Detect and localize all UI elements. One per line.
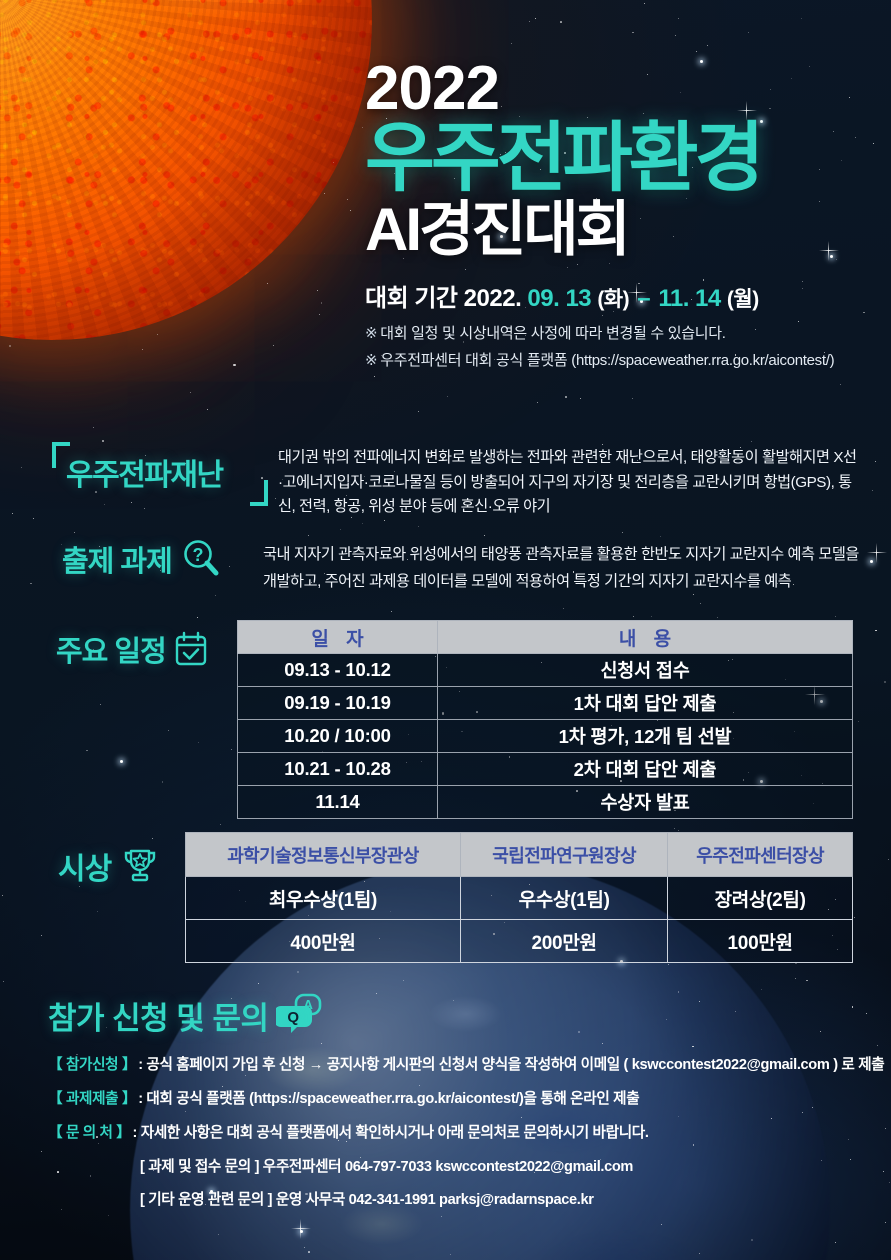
table-row: 최우수상(1팀)우수상(1팀)장려상(2팀) <box>186 877 853 920</box>
apply-line-text: : 공식 홈페이지 가입 후 신청 → 공지사항 게시판의 신청서 양식을 작성… <box>138 1057 884 1073</box>
schedule-table-header-row: 일 자 내 용 <box>238 621 853 654</box>
schedule-content-cell: 1차 대회 답안 제출 <box>438 687 853 720</box>
schedule-date-cell: 09.19 - 10.19 <box>238 687 438 720</box>
apply-line: 【 문 의 처 】: 자세한 사항은 대회 공식 플랫폼에서 확인하시거나 아래… <box>48 1123 860 1143</box>
task-label-group: 출제 과제 ? <box>48 538 263 580</box>
awards-table: 과학기술정보통신부장관상 국립전파연구원장상 우주전파센터장상 최우수상(1팀)… <box>185 832 853 963</box>
period-dash: – <box>635 285 652 312</box>
schedule-date-cell: 09.13 - 10.12 <box>238 654 438 687</box>
disaster-section: 우주전파재난 대기권 밖의 전파에너지 변화로 발생하는 전파와 관련한 재난으… <box>48 442 860 520</box>
award-prize-cell: 100만원 <box>668 920 853 963</box>
awards-table-header-row: 과학기술정보통신부장관상 국립전파연구원장상 우주전파센터장상 <box>186 833 853 877</box>
year-text: 2022 <box>365 60 875 117</box>
note-line-2: ※우주전파센터 대회 공식 플랫폼 (https://spaceweather.… <box>365 349 875 373</box>
period-start: 09. 13 <box>527 285 591 312</box>
table-row: 400만원200만원100만원 <box>186 920 853 963</box>
poster-header: 2022 우주전파환경 AI경진대회 대회 기간 2022. 09. 13 (화… <box>365 60 875 373</box>
table-row: 10.20 / 10:001차 평가, 12개 팀 선발 <box>238 720 853 753</box>
awards-col-2: 국립전파연구원장상 <box>460 833 667 877</box>
period-start-dow: (화) <box>597 288 629 311</box>
note-1-text: 대회 일정 및 시상내역은 사정에 따라 변경될 수 있습니다. <box>380 325 725 342</box>
awards-col-1: 과학기술정보통신부장관상 <box>186 833 461 877</box>
svg-text:?: ? <box>192 545 203 565</box>
schedule-label-text: 주요 일정 <box>56 628 166 670</box>
schedule-date-cell: 10.20 / 10:00 <box>238 720 438 753</box>
schedule-table: 일 자 내 용 09.13 - 10.12신청서 접수09.19 - 10.19… <box>237 620 853 819</box>
poster-root: 2022 우주전파환경 AI경진대회 대회 기간 2022. 09. 13 (화… <box>0 0 891 1260</box>
schedule-col-date: 일 자 <box>238 621 438 654</box>
calendar-check-icon <box>174 631 208 667</box>
schedule-col-content: 내 용 <box>438 621 853 654</box>
award-prize-cell: 400만원 <box>186 920 461 963</box>
period-end: 11. 14 <box>658 285 720 312</box>
task-label-text: 출제 과제 <box>62 538 172 580</box>
trophy-star-icon <box>119 846 161 886</box>
schedule-date-cell: 11.14 <box>238 786 438 819</box>
magnifier-question-icon: ? <box>181 538 223 580</box>
table-row: 09.19 - 10.191차 대회 답안 제출 <box>238 687 853 720</box>
period-year: 2022. <box>464 285 522 312</box>
award-name-cell: 장려상(2팀) <box>668 877 853 920</box>
task-section: 출제 과제 ? 국내 지자기 관측자료와 위성에서의 태양풍 관측자료를 활용한… <box>48 538 860 595</box>
schedule-content-cell: 수상자 발표 <box>438 786 853 819</box>
apply-line-tag: 【 참가신청 】 <box>48 1057 136 1073</box>
apply-label-text: 참가 신청 및 문의 <box>48 993 268 1038</box>
title-main: 우주전파환경 <box>365 121 875 197</box>
apply-line: 【 참가신청 】: 공식 홈페이지 가입 후 신청 → 공지사항 게시판의 신청… <box>48 1055 860 1075</box>
note-mark-icon: ※ <box>365 325 377 342</box>
schedule-label-group: 주요 일정 <box>56 628 208 670</box>
period-label: 대회 기간 <box>365 285 458 312</box>
period-end-dow: (월) <box>727 288 759 311</box>
award-prize-cell: 200만원 <box>460 920 667 963</box>
svg-text:Q: Q <box>288 1009 300 1026</box>
bracket-top-left-icon <box>52 442 70 468</box>
apply-lines-group: 【 참가신청 】: 공식 홈페이지 가입 후 신청 → 공지사항 게시판의 신청… <box>48 1055 860 1210</box>
awards-section: 시상 과학기술정보통신부장관상 국립전파연구원 <box>48 832 853 967</box>
note-2-text: 우주전파센터 대회 공식 플랫폼 (https://spaceweather.r… <box>380 352 834 369</box>
schedule-content-cell: 신청서 접수 <box>438 654 853 687</box>
apply-line: 【 과제제출 】: 대회 공식 플랫폼 (https://spaceweathe… <box>48 1089 860 1109</box>
award-name-cell: 우수상(1팀) <box>460 877 667 920</box>
apply-line-text: : 자세한 사항은 대회 공식 플랫폼에서 확인하시거나 아래 문의처로 문의하… <box>133 1125 649 1141</box>
disaster-name-box: 우주전파재난 <box>48 442 278 504</box>
note-line-1: ※대회 일정 및 시상내역은 사정에 따라 변경될 수 있습니다. <box>365 322 875 346</box>
apply-line-tag: 【 문 의 처 】 <box>48 1125 131 1141</box>
bracket-bottom-right-icon <box>250 480 268 506</box>
disaster-body-text: 대기권 밖의 전파에너지 변화로 발생하는 전파와 관련한 재난으로서, 태양활… <box>278 442 860 520</box>
schedule-date-cell: 10.21 - 10.28 <box>238 753 438 786</box>
table-row: 10.21 - 10.282차 대회 답안 제출 <box>238 753 853 786</box>
award-name-cell: 최우수상(1팀) <box>186 877 461 920</box>
contact-line: [ 과제 및 접수 문의 ] 우주전파센터 064-797-7033 kswcc… <box>48 1157 860 1177</box>
qa-speech-bubble-icon: A Q <box>276 992 324 1038</box>
task-body-text: 국내 지자기 관측자료와 위성에서의 태양풍 관측자료를 활용한 한반도 지자기… <box>263 538 860 595</box>
note-mark-icon-2: ※ <box>365 352 377 369</box>
schedule-content-cell: 2차 대회 답안 제출 <box>438 753 853 786</box>
schedule-section: 주요 일정 일 자 내 용 <box>48 620 853 820</box>
disaster-name-text: 우주전파재난 <box>66 459 223 492</box>
table-row: 09.13 - 10.12신청서 접수 <box>238 654 853 687</box>
awards-label-text: 시상 <box>58 844 111 888</box>
apply-label-group: 참가 신청 및 문의 A Q <box>48 992 860 1038</box>
title-sub: AI경진대회 <box>365 199 875 260</box>
apply-line-tag: 【 과제제출 】 <box>48 1091 136 1107</box>
schedule-content-cell: 1차 평가, 12개 팀 선발 <box>438 720 853 753</box>
apply-section: 참가 신청 및 문의 A Q 【 참가신청 】: 공식 홈페이지 가입 후 신청… <box>48 992 860 1222</box>
table-row: 11.14수상자 발표 <box>238 786 853 819</box>
apply-line-text: : 대회 공식 플랫폼 (https://spaceweather.rra.go… <box>138 1091 639 1107</box>
awards-label-group: 시상 <box>58 844 161 888</box>
awards-col-3: 우주전파센터장상 <box>668 833 853 877</box>
period-line: 대회 기간 2022. 09. 13 (화) – 11. 14 (월) <box>365 278 875 313</box>
contact-line: [ 기타 운영 관련 문의 ] 운영 사무국 042-341-1991 park… <box>48 1190 860 1210</box>
